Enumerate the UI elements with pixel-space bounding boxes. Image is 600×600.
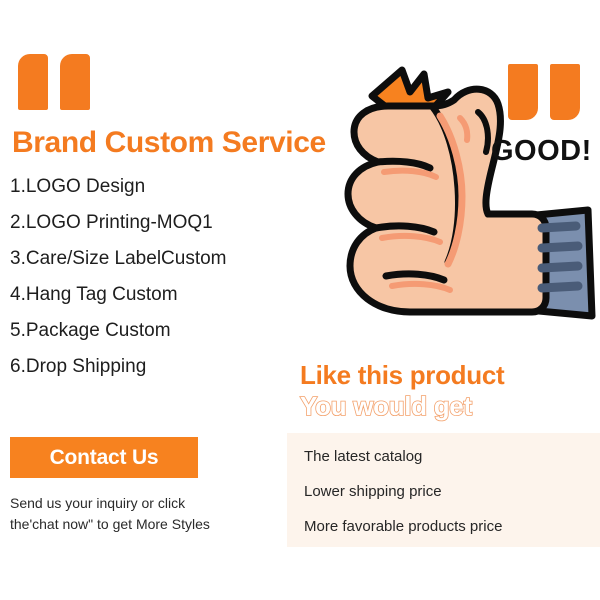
list-item: The latest catalog	[304, 449, 600, 464]
thumbs-up-icon	[336, 48, 600, 350]
good-label: GOOD!	[491, 135, 592, 168]
offer-heading-outline: You would get	[300, 391, 472, 422]
benefits-panel: The latest catalog Lower shipping price …	[287, 433, 600, 547]
list-item: 6.Drop Shipping	[10, 357, 227, 376]
list-item: 3.Care/Size LabelCustom	[10, 249, 227, 268]
list-item: 4.Hang Tag Custom	[10, 285, 227, 304]
list-item: More favorable products price	[304, 519, 600, 534]
contact-us-button[interactable]: Contact Us	[10, 437, 198, 478]
benefits-list: The latest catalog Lower shipping price …	[287, 433, 600, 534]
list-item: 1.LOGO Design	[10, 177, 227, 196]
service-list: 1.LOGO Design 2.LOGO Printing-MOQ1 3.Car…	[10, 177, 227, 393]
inquiry-note: Send us your inquiry or click the'chat n…	[10, 493, 210, 535]
promo-banner: Brand Custom Service 1.LOGO Design 2.LOG…	[0, 0, 600, 600]
list-item: 5.Package Custom	[10, 321, 227, 340]
page-title: Brand Custom Service	[12, 126, 326, 160]
quote-open-icon	[14, 52, 90, 112]
list-item: Lower shipping price	[304, 484, 600, 499]
list-item: 2.LOGO Printing-MOQ1	[10, 213, 227, 232]
inquiry-note-line-1: Send us your inquiry or click	[10, 495, 185, 511]
inquiry-note-line-2: the'chat now" to get More Styles	[10, 516, 210, 532]
offer-heading-solid: Like this product	[300, 360, 504, 391]
